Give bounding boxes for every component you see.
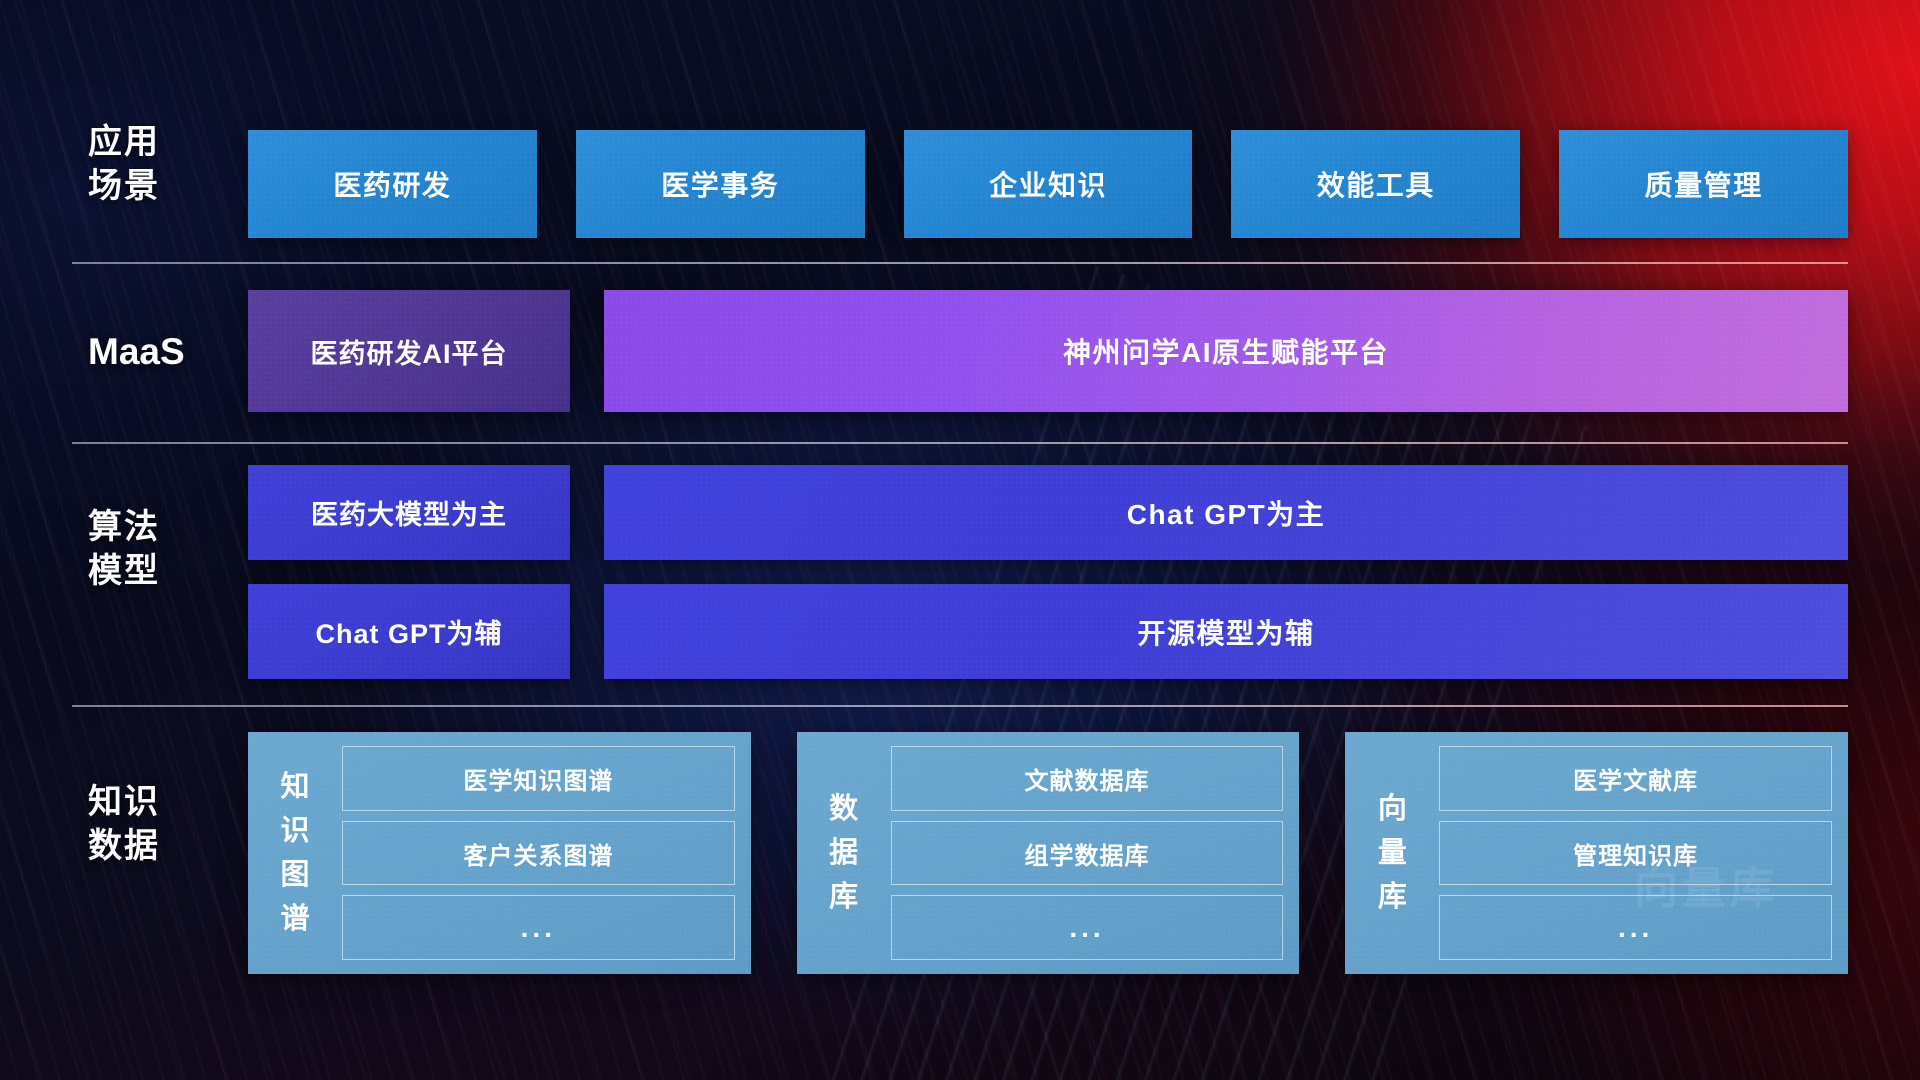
algorithm-model-row: 医药大模型为主 Chat GPT为主 Chat GPT为辅 开源模型为辅 <box>248 465 1848 680</box>
knowledge-item-medical-literature-store[interactable]: 医学文献库 <box>1439 746 1832 811</box>
knowledge-item-management-knowledge-store[interactable]: 管理知识库 <box>1439 821 1832 886</box>
knowledge-group-items: 文献数据库 组学数据库 ... <box>891 746 1284 960</box>
app-card-medical-affairs[interactable]: 医学事务 <box>576 130 865 238</box>
knowledge-group-knowledge-graph: 知识图谱 医学知识图谱 客户关系图谱 ... <box>248 732 751 974</box>
knowledge-item-omics-database[interactable]: 组学数据库 <box>891 821 1284 886</box>
row-label-maas: MaaS <box>88 330 218 374</box>
row-label-line: 数据 <box>88 824 218 868</box>
row-divider-2 <box>72 442 1848 444</box>
knowledge-group-items: 医学文献库 管理知识库 ... <box>1439 746 1832 960</box>
knowledge-item-medical-knowledge-graph[interactable]: 医学知识图谱 <box>342 746 735 811</box>
knowledge-group-title: 数据库 <box>813 746 875 960</box>
algorithm-model-line-primary: 医药大模型为主 Chat GPT为主 <box>248 465 1848 560</box>
knowledge-group-items: 医学知识图谱 客户关系图谱 ... <box>342 746 735 960</box>
row-label-line: 模型 <box>88 549 218 593</box>
row-label-line: 场景 <box>88 164 218 208</box>
row-divider-1 <box>72 262 1848 264</box>
row-label-algorithm-model: 算法 模型 <box>88 505 218 593</box>
knowledge-data-row: 知识图谱 医学知识图谱 客户关系图谱 ... 数据库 文献数据库 组学数据库 .… <box>248 732 1848 974</box>
app-card-quality-management[interactable]: 质量管理 <box>1559 130 1848 238</box>
knowledge-group-title-text: 向量库 <box>1375 787 1409 919</box>
app-card-enterprise-knowledge[interactable]: 企业知识 <box>904 130 1193 238</box>
maas-row: 医药研发AI平台 神州问学AI原生赋能平台 <box>248 290 1848 412</box>
knowledge-group-title-text: 数据库 <box>827 787 861 919</box>
algo-card-pharma-llm-primary[interactable]: 医药大模型为主 <box>248 465 570 560</box>
app-card-medicine-rd[interactable]: 医药研发 <box>248 130 537 238</box>
algorithm-model-line-secondary: Chat GPT为辅 开源模型为辅 <box>248 584 1848 679</box>
knowledge-group-database: 数据库 文献数据库 组学数据库 ... <box>797 732 1300 974</box>
algo-card-opensource-secondary[interactable]: 开源模型为辅 <box>604 584 1848 679</box>
knowledge-item-more[interactable]: ... <box>891 895 1284 960</box>
knowledge-group-title: 知识图谱 <box>264 746 326 960</box>
algo-card-chatgpt-secondary[interactable]: Chat GPT为辅 <box>248 584 570 679</box>
row-label-line: 算法 <box>88 505 218 549</box>
knowledge-item-customer-relation-graph[interactable]: 客户关系图谱 <box>342 821 735 886</box>
maas-card-pharma-ai-platform[interactable]: 医药研发AI平台 <box>248 290 570 412</box>
row-label-line: 应用 <box>88 120 218 164</box>
knowledge-item-literature-database[interactable]: 文献数据库 <box>891 746 1284 811</box>
application-scenario-row: 医药研发 医学事务 企业知识 效能工具 质量管理 <box>248 130 1848 238</box>
row-label-application-scenario: 应用 场景 <box>88 120 218 208</box>
algo-card-chatgpt-primary[interactable]: Chat GPT为主 <box>604 465 1848 560</box>
diagram-canvas: 应用 场景 医药研发 医学事务 企业知识 效能工具 质量管理 MaaS 医药研发… <box>0 0 1920 1080</box>
knowledge-group-title: 向量库 <box>1361 746 1423 960</box>
knowledge-group-vector-store: 向量库 向量库 医学文献库 管理知识库 ... <box>1345 732 1848 974</box>
knowledge-item-more[interactable]: ... <box>342 895 735 960</box>
row-label-knowledge-data: 知识 数据 <box>88 780 218 868</box>
knowledge-group-title-text: 知识图谱 <box>278 765 312 941</box>
maas-card-shenzhou-wenxue-platform[interactable]: 神州问学AI原生赋能平台 <box>604 290 1848 412</box>
row-label-line: 知识 <box>88 780 218 824</box>
knowledge-item-more[interactable]: ... <box>1439 895 1832 960</box>
row-divider-3 <box>72 705 1848 707</box>
app-card-efficiency-tools[interactable]: 效能工具 <box>1231 130 1520 238</box>
